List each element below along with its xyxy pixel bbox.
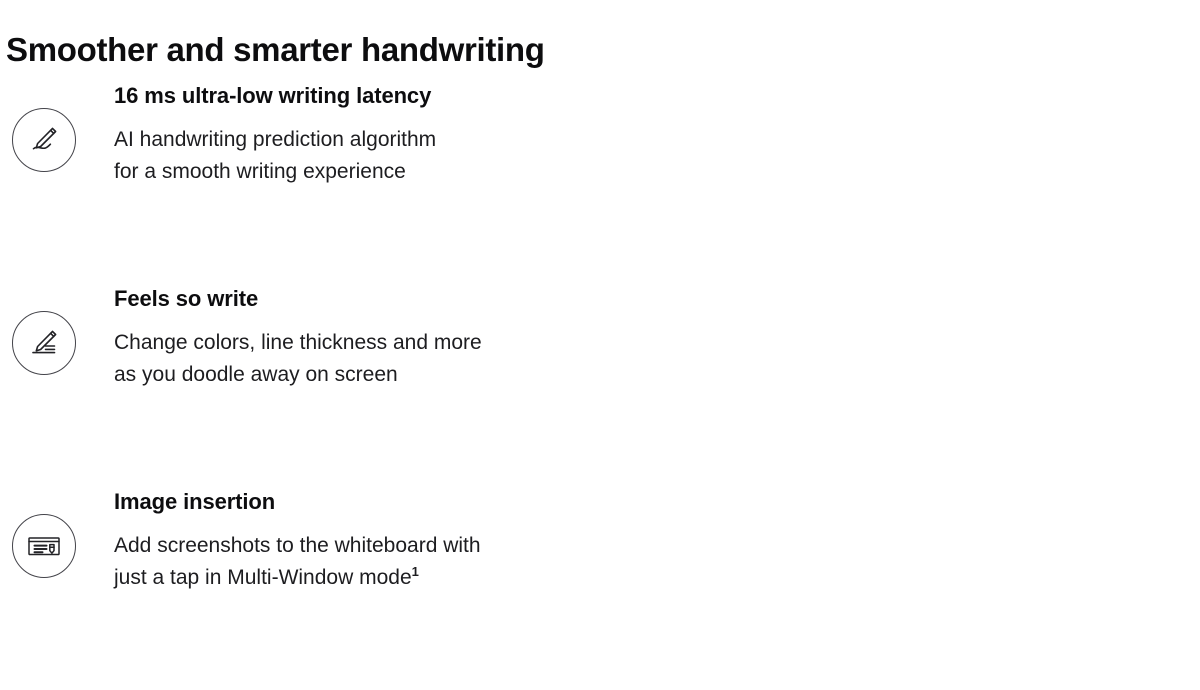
feature-highlight-page: Smoother and smarter handwriting 16 ms u… — [0, 0, 1200, 622]
feature-icon-container — [12, 108, 76, 172]
pen-stroke-icon — [12, 108, 76, 172]
feature-text-block: 16 ms ultra-low writing latency AI handw… — [114, 72, 675, 188]
feature-icon-container — [12, 514, 76, 578]
feature-card-writing-latency: 16 ms ultra-low writing latency AI handw… — [0, 72, 675, 275]
feature-description: Add screenshots to the whiteboard with j… — [114, 530, 674, 594]
feature-card-content-saving: Content saving Scan the QR code to save … — [675, 478, 1200, 622]
feature-card-whiteboard-favorites: Whiteboard favorites Save frequently use… — [675, 275, 1200, 478]
image-card-pencil-icon — [12, 514, 76, 578]
feature-title: 16 ms ultra-low writing latency — [114, 82, 675, 110]
pen-lines-icon — [12, 311, 76, 375]
feature-title: Image insertion — [114, 488, 675, 516]
feature-title: Feels so write — [114, 285, 675, 313]
feature-description: AI handwriting prediction algorithm for … — [114, 124, 674, 188]
feature-text-block: Feels so write Change colors, line thick… — [114, 275, 675, 391]
feature-text-block: Image insertion Add screenshots to the w… — [114, 478, 675, 594]
features-grid: 16 ms ultra-low writing latency AI handw… — [0, 72, 1200, 622]
feature-card-intelligent-writing: Intelligent writing Intelligently recogn… — [675, 72, 1200, 275]
page-title: Smoother and smarter handwriting — [6, 28, 545, 72]
feature-icon-container — [12, 311, 76, 375]
feature-description: Change colors, line thickness and more a… — [114, 327, 674, 391]
feature-card-image-insertion: Image insertion Add screenshots to the w… — [0, 478, 675, 622]
feature-description-text: Add screenshots to the whiteboard with j… — [114, 534, 481, 589]
feature-card-feels-so-write: Feels so write Change colors, line thick… — [0, 275, 675, 478]
footnote-marker: 1 — [412, 564, 419, 579]
